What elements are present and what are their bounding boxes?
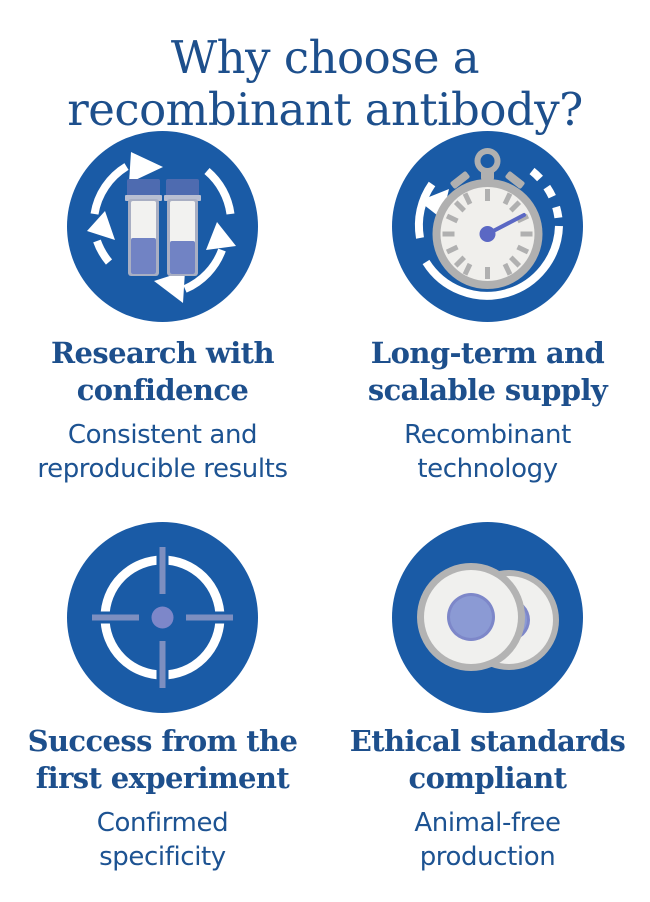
crosshair-target-icon — [67, 522, 258, 713]
benefit-subtitle-line-1: Recombinant — [404, 418, 571, 452]
page-title-line-1: Why choose a — [0, 32, 650, 84]
benefit-heading: Research with confidence — [51, 335, 274, 409]
page-title-line-2: recombinant antibody? — [0, 84, 650, 136]
benefit-subtitle: Recombinant technology — [404, 418, 571, 486]
benefit-subtitle-line-1: Confirmed — [97, 806, 228, 840]
benefit-subtitle-line-2: specificity — [97, 840, 228, 874]
benefit-heading-line-2: compliant — [350, 760, 626, 797]
benefit-subtitle-line-1: Consistent and — [37, 418, 287, 452]
benefit-subtitle-line-2: production — [414, 840, 560, 874]
vial-right — [164, 179, 201, 276]
benefit-heading-line-1: Ethical standards — [350, 723, 626, 760]
benefit-heading: Ethical standards compliant — [350, 723, 626, 797]
benefit-subtitle: Consistent and reproducible results — [37, 418, 287, 486]
vials-cycle-icon — [67, 131, 258, 322]
cell-left — [417, 563, 525, 671]
benefit-subtitle: Animal-free production — [414, 806, 560, 874]
benefit-heading-line-2: scalable supply — [368, 372, 607, 409]
vial-left — [125, 179, 162, 276]
stopwatch-arrow-icon — [392, 131, 583, 322]
benefit-subtitle-line-2: technology — [404, 452, 571, 486]
benefits-grid: Research with confidence Consistent and … — [0, 131, 650, 902]
two-cells-icon — [392, 522, 583, 713]
benefit-card-long-term-supply: Long-term and scalable supply Recombinan… — [325, 131, 650, 522]
page-title: Why choose a recombinant antibody? — [0, 32, 650, 136]
infographic-page: Why choose a recombinant antibody? — [0, 0, 650, 889]
benefit-heading-line-1: Research with — [51, 335, 274, 372]
benefit-heading: Success from the first experiment — [28, 723, 298, 797]
benefit-heading-line-2: first experiment — [28, 760, 298, 797]
benefit-heading: Long-term and scalable supply — [368, 335, 607, 409]
benefit-heading-line-1: Success from the — [28, 723, 298, 760]
benefit-card-success-first-experiment: Success from the first experiment Confir… — [0, 522, 325, 902]
benefit-subtitle-line-2: reproducible results — [37, 452, 287, 486]
benefit-card-research-with-confidence: Research with confidence Consistent and … — [0, 131, 325, 522]
benefit-heading-line-2: confidence — [51, 372, 274, 409]
benefit-heading-line-1: Long-term and — [368, 335, 607, 372]
benefit-subtitle: Confirmed specificity — [97, 806, 228, 874]
benefit-subtitle-line-1: Animal-free — [414, 806, 560, 840]
benefit-card-ethical-standards: Ethical standards compliant Animal-free … — [325, 522, 650, 902]
